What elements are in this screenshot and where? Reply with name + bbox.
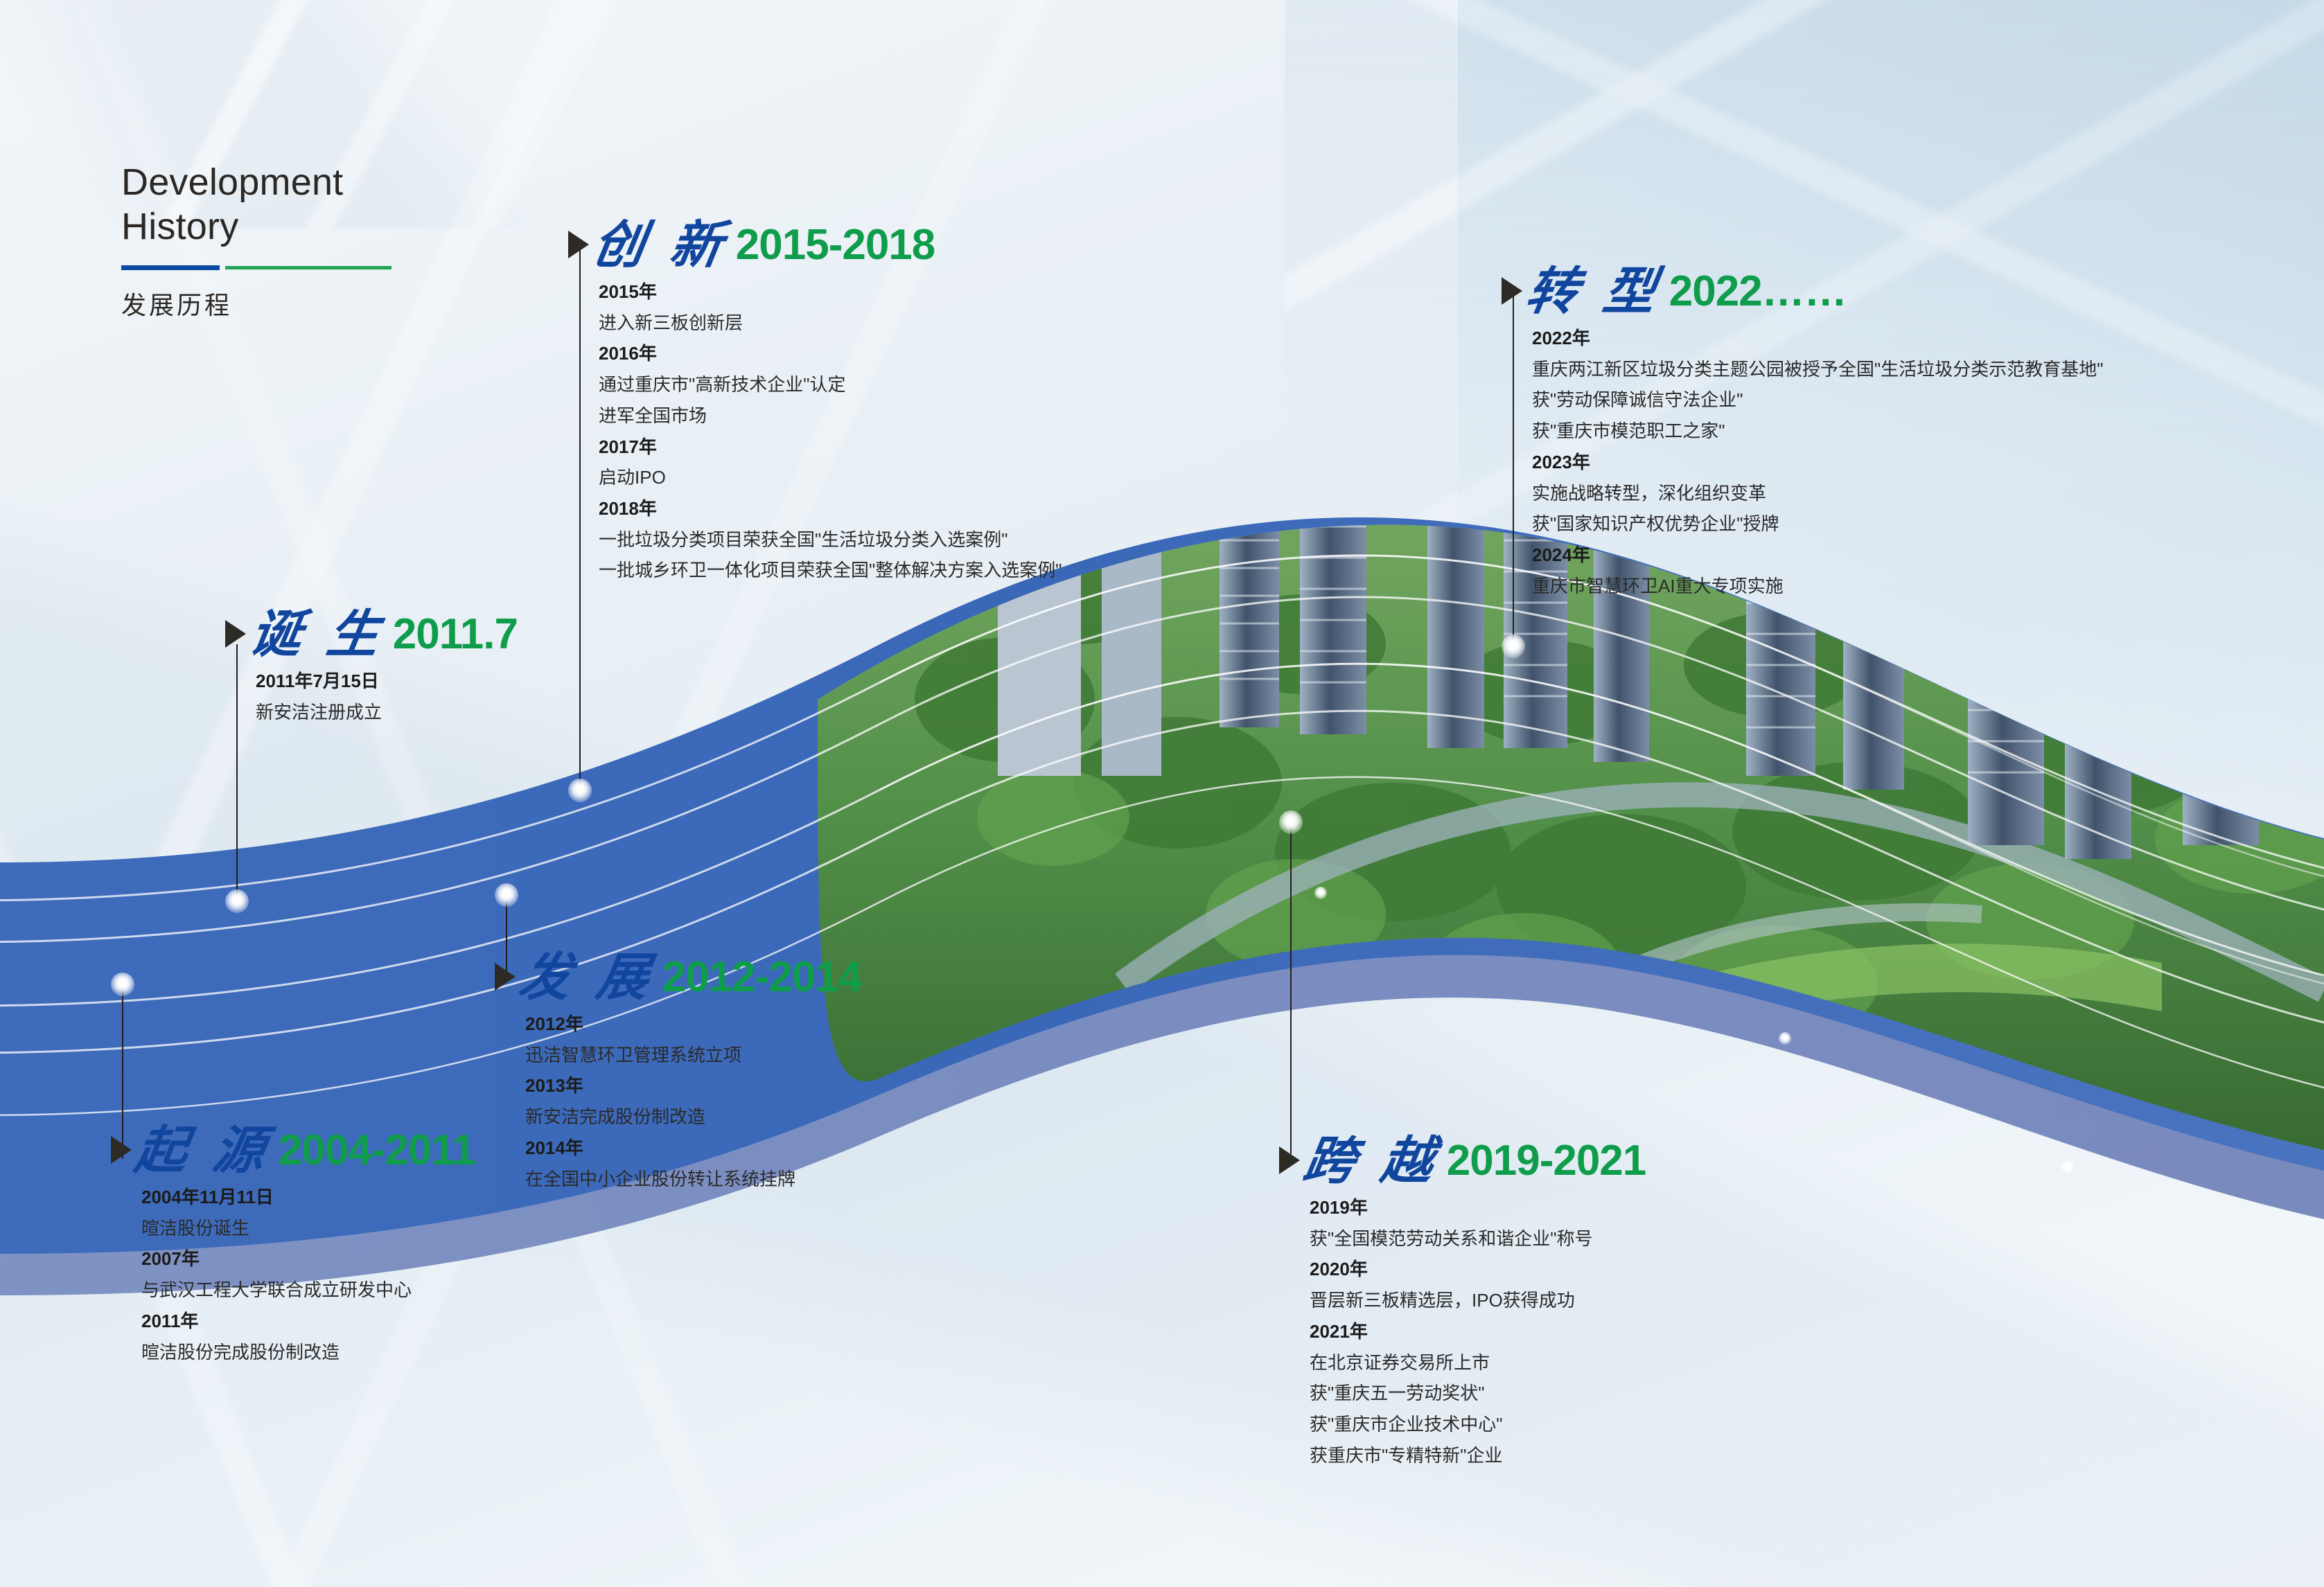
marker-triangle-icon bbox=[495, 963, 516, 991]
milestone-origin[interactable]: 起 源 2004-2011 2004年11月11日 暄洁股份诞生 2007年 与… bbox=[111, 1126, 475, 1367]
entry-line: 获"重庆市企业技术中心" bbox=[1310, 1409, 1646, 1440]
milestone-origin-head: 起 源 2004-2011 bbox=[111, 1126, 475, 1175]
marker-triangle-icon bbox=[111, 1136, 132, 1164]
milestone-transform-body: 2022年 重庆两江新区垃圾分类主题公园被授予全国"生活垃圾分类示范教育基地" … bbox=[1532, 323, 2103, 601]
milestone-growth[interactable]: 发 展 2012-2014 2012年 迅洁智慧环卫管理系统立项 2013年 新… bbox=[495, 952, 861, 1194]
title-rule-green bbox=[225, 266, 391, 269]
milestone-transform-year-range: 2022…… bbox=[1669, 267, 1847, 316]
entry-line: 获"重庆五一劳动奖状" bbox=[1310, 1378, 1646, 1409]
milestone-growth-head: 发 展 2012-2014 bbox=[495, 952, 861, 1002]
entry-year: 2024年 bbox=[1532, 540, 2103, 571]
milestone-transform-cn-title: 转 型 bbox=[1522, 267, 1663, 316]
entry-line: 通过重庆市"高新技术企业"认定 bbox=[599, 369, 1062, 400]
entry-line: 实施战略转型，深化组织变革 bbox=[1532, 478, 2103, 509]
page-header: Development History 发展历程 bbox=[121, 161, 391, 321]
page-title-en-line1: Development bbox=[121, 161, 391, 205]
entry-line: 新安洁完成股份制改造 bbox=[525, 1101, 861, 1133]
entry-year: 2015年 bbox=[599, 276, 1062, 308]
entry-year: 2011年 bbox=[141, 1306, 475, 1337]
milestone-innovation-cn-title: 创 新 bbox=[589, 221, 730, 269]
entry-line: 在全国中小企业股份转让系统挂牌 bbox=[525, 1164, 861, 1195]
milestone-origin-body: 2004年11月11日 暄洁股份诞生 2007年 与武汉工程大学联合成立研发中心… bbox=[141, 1182, 475, 1367]
marker-triangle-icon bbox=[225, 620, 246, 648]
milestone-leap[interactable]: 跨 越 2019-2021 2019年 获"全国模范劳动关系和谐企业"称号 20… bbox=[1279, 1136, 1646, 1471]
milestone-innovation[interactable]: 创 新 2015-2018 2015年 进入新三板创新层 2016年 通过重庆市… bbox=[568, 220, 1062, 586]
entry-year: 2022年 bbox=[1532, 323, 2103, 354]
page-title-en-line2: History bbox=[121, 205, 391, 249]
milestone-birth-cn-title: 诞 生 bbox=[246, 610, 387, 659]
entry-year: 2012年 bbox=[525, 1009, 861, 1040]
milestone-innovation-year-range: 2015-2018 bbox=[736, 220, 935, 269]
entry-line: 一批城乡环卫一体化项目荣获全国"整体解决方案入选案例" bbox=[599, 555, 1062, 586]
entry-line: 新安洁注册成立 bbox=[256, 697, 518, 728]
entry-year: 2016年 bbox=[599, 338, 1062, 369]
milestone-transform-head: 转 型 2022…… bbox=[1502, 267, 2103, 316]
node-growth bbox=[495, 883, 518, 907]
entry-year: 2018年 bbox=[599, 493, 1062, 524]
milestone-origin-year-range: 2004-2011 bbox=[279, 1126, 475, 1175]
entry-year: 2007年 bbox=[141, 1243, 475, 1275]
milestone-growth-cn-title: 发 展 bbox=[516, 953, 656, 1002]
entry-line: 获重庆市"专精特新"企业 bbox=[1310, 1440, 1646, 1471]
milestone-growth-year-range: 2012-2014 bbox=[662, 952, 862, 1002]
milestone-birth-head: 诞 生 2011.7 bbox=[225, 610, 518, 659]
node-decorative-2 bbox=[1779, 1032, 1791, 1045]
milestone-innovation-head: 创 新 2015-2018 bbox=[568, 220, 1062, 269]
entry-year: 2023年 bbox=[1532, 447, 2103, 478]
node-decorative-1 bbox=[1314, 887, 1327, 899]
milestone-leap-cn-title: 跨 越 bbox=[1300, 1137, 1441, 1185]
marker-triangle-icon bbox=[1502, 277, 1522, 305]
entry-year: 2019年 bbox=[1310, 1192, 1646, 1223]
entry-year: 2021年 bbox=[1310, 1316, 1646, 1347]
node-innovation bbox=[568, 779, 592, 802]
entry-line: 暄洁股份完成股份制改造 bbox=[141, 1337, 475, 1368]
milestone-birth-body: 2011年7月15日 新安洁注册成立 bbox=[256, 666, 518, 727]
entry-line: 获"劳动保障诚信守法企业" bbox=[1532, 384, 2103, 416]
stem-leap bbox=[1290, 822, 1292, 1154]
marker-triangle-icon bbox=[568, 231, 589, 258]
entry-line: 获"重庆市模范职工之家" bbox=[1532, 416, 2103, 447]
poster-canvas: Development History 发展历程 创 新 2015-2018 2… bbox=[0, 0, 2324, 1587]
milestone-growth-body: 2012年 迅洁智慧环卫管理系统立项 2013年 新安洁完成股份制改造 2014… bbox=[525, 1009, 861, 1194]
entry-line: 晋层新三板精选层，IPO获得成功 bbox=[1310, 1285, 1646, 1316]
entry-year: 2014年 bbox=[525, 1133, 861, 1164]
entry-line: 与武汉工程大学联合成立研发中心 bbox=[141, 1275, 475, 1306]
title-rule-blue bbox=[121, 265, 220, 270]
entry-line: 在北京证券交易所上市 bbox=[1310, 1347, 1646, 1378]
milestone-leap-year-range: 2019-2021 bbox=[1447, 1136, 1646, 1185]
entry-year: 2017年 bbox=[599, 432, 1062, 463]
entry-year: 2013年 bbox=[525, 1070, 861, 1101]
entry-line: 暄洁股份诞生 bbox=[141, 1213, 475, 1244]
entry-line: 迅洁智慧环卫管理系统立项 bbox=[525, 1040, 861, 1071]
milestone-transform[interactable]: 转 型 2022…… 2022年 重庆两江新区垃圾分类主题公园被授予全国"生活垃… bbox=[1502, 267, 2103, 601]
entry-line: 获"全国模范劳动关系和谐企业"称号 bbox=[1310, 1223, 1646, 1254]
entry-line: 获"国家知识产权优势企业"授牌 bbox=[1532, 508, 2103, 540]
node-leap bbox=[1279, 810, 1303, 834]
entry-year: 2020年 bbox=[1310, 1254, 1646, 1285]
milestone-birth[interactable]: 诞 生 2011.7 2011年7月15日 新安洁注册成立 bbox=[225, 610, 518, 727]
entry-line: 一批垃圾分类项目荣获全国"生活垃圾分类入选案例" bbox=[599, 524, 1062, 556]
entry-year: 2004年11月11日 bbox=[141, 1182, 475, 1213]
milestone-birth-year-range: 2011.7 bbox=[393, 610, 518, 659]
node-origin bbox=[111, 973, 134, 996]
entry-line: 重庆两江新区垃圾分类主题公园被授予全国"生活垃圾分类示范教育基地" bbox=[1532, 354, 2103, 385]
entry-line: 重庆市智慧环卫AI重大专项实施 bbox=[1532, 571, 2103, 602]
entry-year: 2011年7月15日 bbox=[256, 666, 518, 697]
title-rule bbox=[121, 265, 391, 270]
title-rule-gap bbox=[220, 265, 225, 270]
milestone-leap-body: 2019年 获"全国模范劳动关系和谐企业"称号 2020年 晋层新三板精选层，I… bbox=[1310, 1192, 1646, 1471]
node-transform bbox=[1502, 635, 1525, 658]
entry-line: 启动IPO bbox=[599, 462, 1062, 493]
entry-line: 进入新三板创新层 bbox=[599, 308, 1062, 339]
milestone-origin-cn-title: 起 源 bbox=[132, 1126, 272, 1175]
node-birth bbox=[225, 889, 249, 913]
node-decorative-3 bbox=[2061, 1161, 2074, 1173]
milestone-innovation-body: 2015年 进入新三板创新层 2016年 通过重庆市"高新技术企业"认定 进军全… bbox=[599, 276, 1062, 586]
entry-line: 进军全国市场 bbox=[599, 400, 1062, 432]
page-title-cn: 发展历程 bbox=[121, 285, 391, 321]
milestone-leap-head: 跨 越 2019-2021 bbox=[1279, 1136, 1646, 1185]
marker-triangle-icon bbox=[1279, 1146, 1300, 1174]
